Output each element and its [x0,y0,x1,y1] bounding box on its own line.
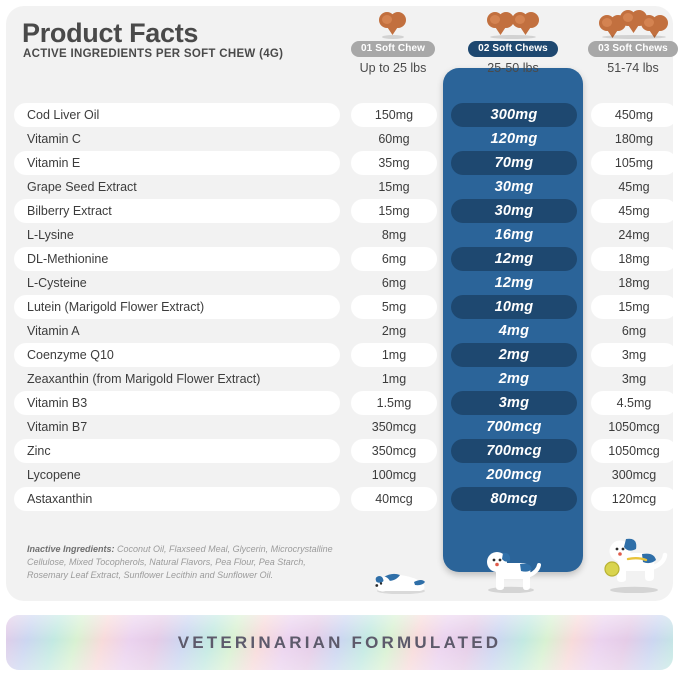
ingredient-name: Astaxanthin [27,487,92,511]
dose-value-column-3: 1050mcg [591,415,677,439]
page-subtitle: ACTIVE INGREDIENTS PER SOFT CHEW (4G) [23,48,283,60]
dose-value-column-1: 6mg [351,247,437,271]
ingredient-name: Lycopene [27,463,81,487]
ingredient-name: Cod Liver Oil [27,103,99,127]
dose-value-column-1: 1mg [351,367,437,391]
dose-count-badge-1: 01 Soft Chew [351,41,435,57]
soft-chew-icon [512,12,539,36]
dose-value-column-3: 180mg [591,127,677,151]
dose-value-column-3: 18mg [591,247,677,271]
dose-weight-1: Up to 25 lbs [333,61,453,75]
table-row: Vitamin E35mg70mg105mg [14,151,665,175]
table-row: L-Lysine8mg16mg24mg [14,223,665,247]
dose-value-column-2: 2mg [451,343,577,367]
table-row: Coenzyme Q101mg2mg3mg [14,343,665,367]
inactive-ingredients: Inactive Ingredients: Coconut Oil, Flaxs… [27,543,349,582]
dose-value-column-3: 120mcg [591,487,677,511]
dose-value-column-3: 300mcg [591,463,677,487]
table-row: DL-Methionine6mg12mg18mg [14,247,665,271]
table-row: Vitamin A2mg4mg6mg [14,319,665,343]
table-row: Bilberry Extract15mg30mg45mg [14,199,665,223]
dose-value-column-2: 16mg [451,223,577,247]
chew-icons-3 [573,8,679,38]
dose-value-column-3: 45mg [591,199,677,223]
table-row: Vitamin B7350mcg700mcg1050mcg [14,415,665,439]
dose-value-column-2: 300mg [451,103,577,127]
ingredient-name: L-Cysteine [27,271,87,295]
dose-value-column-2: 700mcg [451,415,577,439]
table-row: Lutein (Marigold Flower Extract)5mg10mg1… [14,295,665,319]
table-row: Zeaxanthin (from Marigold Flower Extract… [14,367,665,391]
dose-value-column-3: 105mg [591,151,677,175]
dose-value-column-2: 2mg [451,367,577,391]
ingredient-name: Grape Seed Extract [27,175,137,199]
ingredient-name: L-Lysine [27,223,74,247]
dose-value-column-1: 2mg [351,319,437,343]
dose-value-column-1: 35mg [351,151,437,175]
veterinarian-formulated-banner: VETERINARIAN FORMULATED [6,615,673,670]
table-row: Vitamin B31.5mg3mg4.5mg [14,391,665,415]
ingredient-name: DL-Methionine [27,247,108,271]
banner-text: VETERINARIAN FORMULATED [6,615,673,670]
dose-value-column-3: 45mg [591,175,677,199]
dose-value-column-2: 120mg [451,127,577,151]
dose-value-column-3: 24mg [591,223,677,247]
table-row: Vitamin C60mg120mg180mg [14,127,665,151]
product-facts-page: Product Facts ACTIVE INGREDIENTS PER SOF… [0,0,679,676]
dose-count-badge-3: 03 Soft Chews [588,41,678,57]
dose-value-column-1: 8mg [351,223,437,247]
dose-value-column-1: 15mg [351,175,437,199]
table-row: Astaxanthin40mcg80mcg120mcg [14,487,665,511]
dose-value-column-2: 70mg [451,151,577,175]
chew-icons-2 [453,8,573,38]
ingredient-name: Lutein (Marigold Flower Extract) [27,295,204,319]
ingredient-name: Vitamin B3 [27,391,87,415]
dose-value-column-3: 1050mcg [591,439,677,463]
table-row: L-Cysteine6mg12mg18mg [14,271,665,295]
dose-value-column-3: 3mg [591,343,677,367]
dose-value-column-1: 40mcg [351,487,437,511]
dose-value-column-1: 15mg [351,199,437,223]
soft-chew-icon [379,12,406,36]
dose-column-header-2[interactable]: 02 Soft Chews 25-50 lbs [453,8,573,75]
dose-value-column-2: 12mg [451,247,577,271]
dose-value-column-2: 30mg [451,175,577,199]
dose-value-column-1: 350mcg [351,439,437,463]
ingredient-name: Bilberry Extract [27,199,112,223]
dose-value-column-3: 6mg [591,319,677,343]
dose-value-column-1: 1.5mg [351,391,437,415]
dose-value-column-2: 80mcg [451,487,577,511]
dose-weight-2: 25-50 lbs [453,61,573,75]
dose-value-column-3: 3mg [591,367,677,391]
dose-value-column-1: 100mcg [351,463,437,487]
dose-value-column-3: 18mg [591,271,677,295]
ingredient-name: Vitamin C [27,127,81,151]
ingredient-table: Cod Liver Oil150mg300mg450mgVitamin C60m… [14,103,665,511]
dose-value-column-3: 4.5mg [591,391,677,415]
dose-column-header-3[interactable]: 03 Soft Chews 51-74 lbs [573,8,679,75]
dog-illustration-jumping [598,535,668,593]
dose-value-column-2: 200mcg [451,463,577,487]
ingredient-name: Zinc [27,439,51,463]
dose-value-column-2: 30mg [451,199,577,223]
table-row: Grape Seed Extract15mg30mg45mg [14,175,665,199]
soft-chew-icon [487,12,514,36]
inactive-ingredients-label: Inactive Ingredients: [27,544,115,554]
dose-value-column-2: 4mg [451,319,577,343]
dog-illustration-standing [480,545,542,593]
row-background [14,439,340,463]
page-title: Product Facts [22,18,198,49]
dose-count-badge-2: 02 Soft Chews [468,41,558,57]
chew-icons-1 [333,8,453,38]
dose-value-column-1: 60mg [351,127,437,151]
dose-value-column-1: 6mg [351,271,437,295]
dose-value-column-2: 10mg [451,295,577,319]
table-row: Cod Liver Oil150mg300mg450mg [14,103,665,127]
dose-value-column-1: 1mg [351,343,437,367]
table-row: Lycopene100mcg200mcg300mcg [14,463,665,487]
ingredient-name: Vitamin E [27,151,80,175]
dose-value-column-2: 12mg [451,271,577,295]
ingredient-name: Coenzyme Q10 [27,343,114,367]
ingredient-name: Vitamin A [27,319,80,343]
ingredient-name: Zeaxanthin (from Marigold Flower Extract… [27,367,260,391]
table-row: Zinc350mcg700mcg1050mcg [14,439,665,463]
dose-value-column-1: 150mg [351,103,437,127]
ingredient-name: Vitamin B7 [27,415,87,439]
dog-illustration-lying [370,560,430,594]
dose-value-column-2: 3mg [451,391,577,415]
dose-value-column-2: 700mcg [451,439,577,463]
dose-value-column-3: 15mg [591,295,677,319]
dose-column-header-1[interactable]: 01 Soft Chew Up to 25 lbs [333,8,453,75]
dose-value-column-3: 450mg [591,103,677,127]
dose-value-column-1: 350mcg [351,415,437,439]
dose-value-column-1: 5mg [351,295,437,319]
dose-weight-3: 51-74 lbs [573,61,679,75]
